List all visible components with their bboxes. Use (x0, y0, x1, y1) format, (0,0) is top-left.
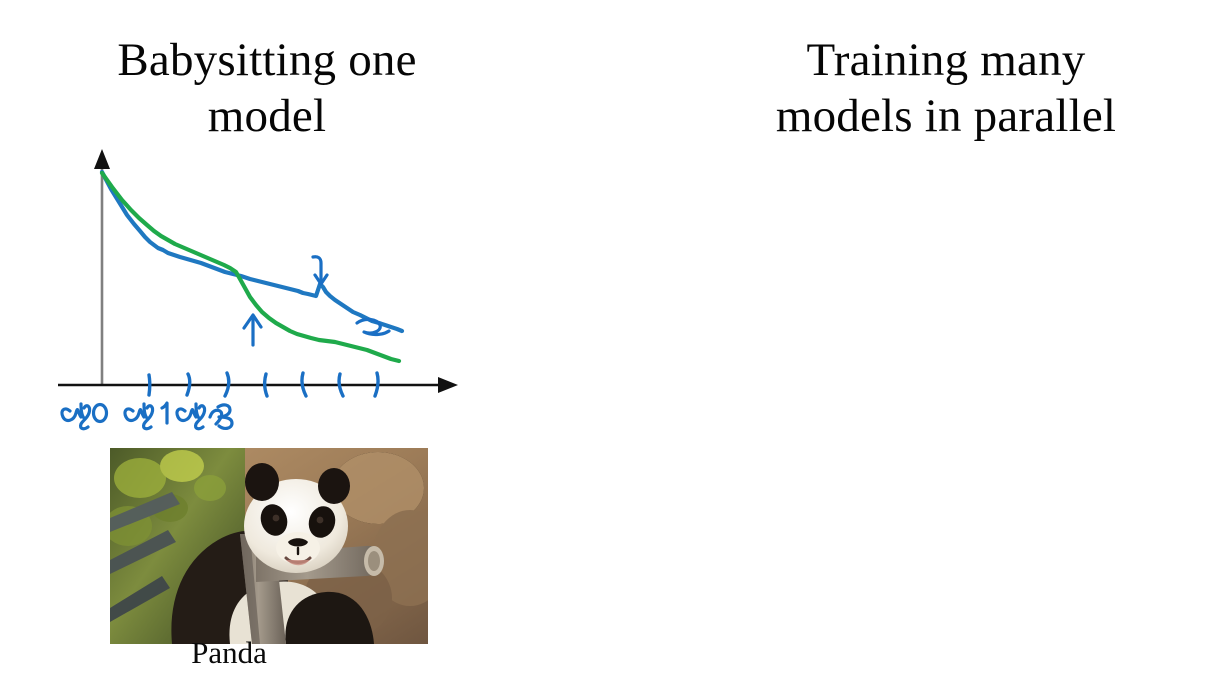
panel-training-parallel: Training many models in parallel (614, 0, 1228, 680)
chart-babysitting-one-model (50, 145, 470, 435)
ink-arrow-down (313, 257, 327, 284)
x-axis-left (58, 377, 458, 393)
ink-arrow-up (244, 315, 261, 345)
panel-babysitting: Babysitting one model (0, 0, 614, 680)
slide-root: Babysitting one model (0, 0, 1228, 680)
page-title-right: Training many models in parallel (614, 33, 1228, 144)
series-blue-run (102, 172, 402, 331)
page-title-left: Babysitting one model (0, 33, 614, 144)
ink-day-labels (62, 403, 232, 429)
panda-photo (110, 448, 428, 644)
series-green-run (102, 173, 399, 361)
panda-caption: Panda (70, 636, 388, 670)
